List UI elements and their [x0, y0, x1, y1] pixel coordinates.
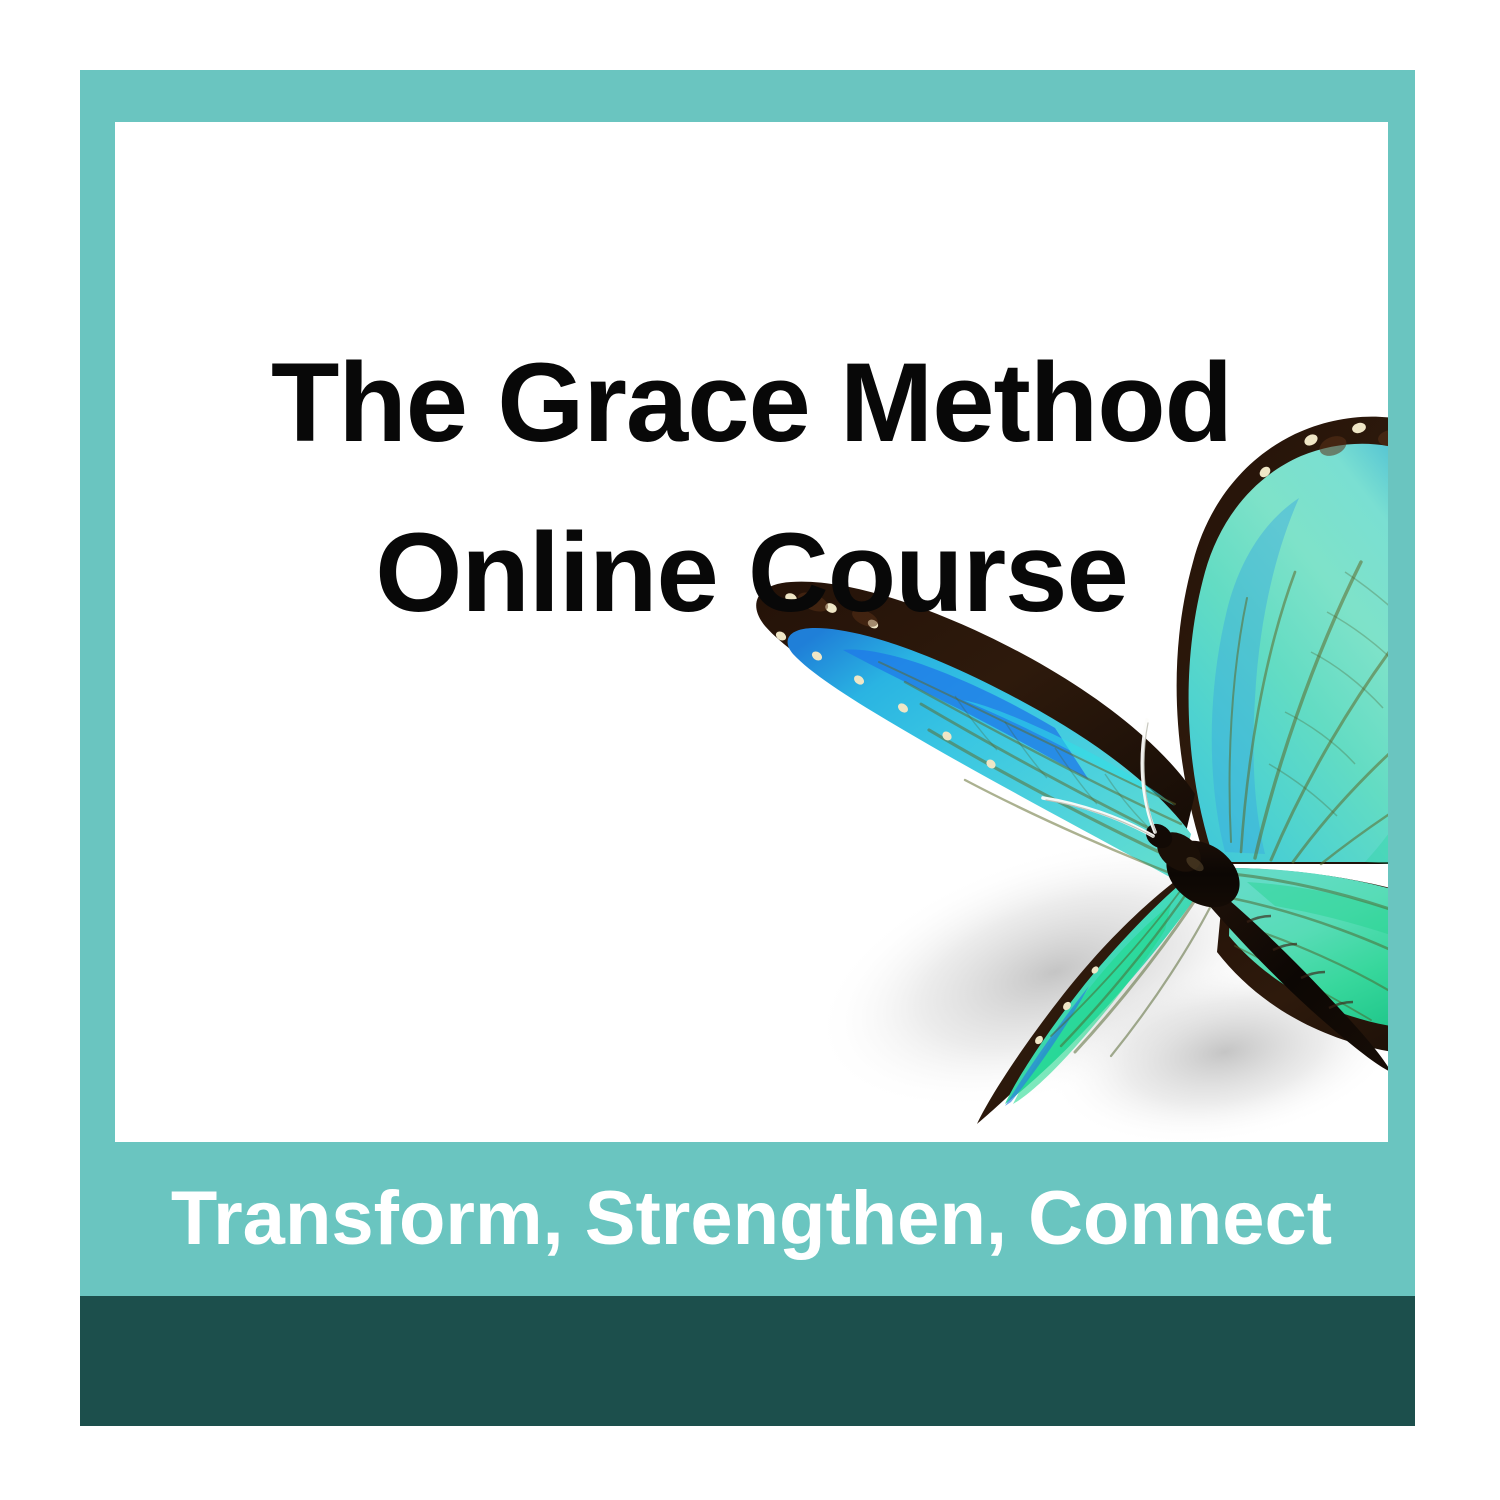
butterfly-upper-right-wing — [1177, 417, 1388, 864]
poster-canvas: The Grace Method Online Course Transform… — [0, 0, 1500, 1500]
content-panel: The Grace Method Online Course — [115, 122, 1388, 1142]
butterfly-illustration — [755, 412, 1388, 1142]
tagline-text: Transform, Strengthen, Connect — [171, 1181, 1332, 1257]
tagline-band: Transform, Strengthen, Connect — [115, 1142, 1388, 1296]
footer-band — [80, 1296, 1415, 1426]
butterfly-upper-left-wing — [756, 582, 1195, 882]
